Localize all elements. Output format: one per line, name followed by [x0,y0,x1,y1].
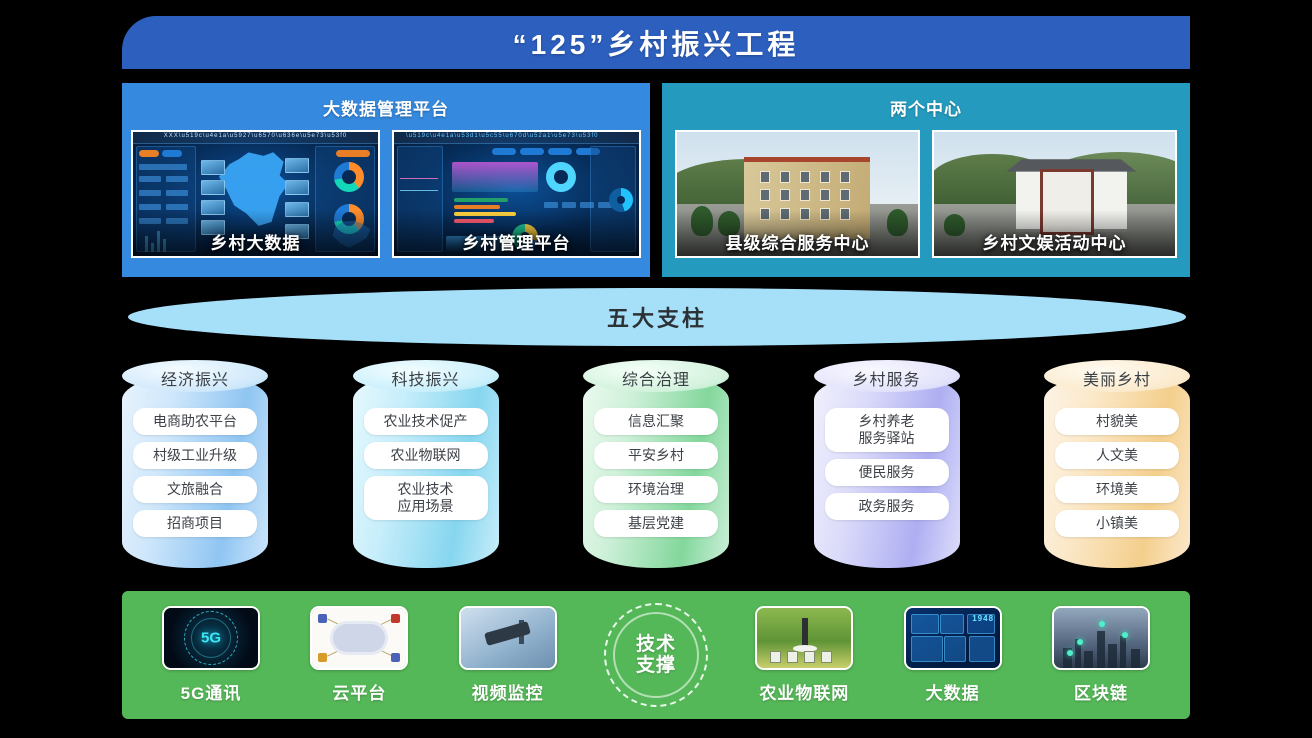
pillar-title: 经济振兴 [122,366,268,390]
pillar-item[interactable]: 文旅融合 [133,476,257,503]
pillar-economic-revitalization[interactable]: 经济振兴 电商助农平台 村级工业升级 文旅融合 招商项目 [122,360,268,568]
pillar-beautiful-village[interactable]: 美丽乡村 村貌美 人文美 环境美 小镇美 [1044,360,1190,568]
tech-item-big-data[interactable]: 1948 大数据 [898,606,1008,704]
card-rural-management-platform[interactable]: \u519c\u4e1a\u53d1\u5c55\u670d\u52a1\u5e… [392,130,641,258]
pillar-item[interactable]: 信息汇聚 [594,408,718,435]
agri-iot-icon [755,606,853,670]
blockchain-icon [1052,606,1150,670]
top-panels: 大数据管理平台 XXX\u519c\u4e1a\u5927\u6570\u636… [122,83,1190,277]
panel-title-big-data: 大数据管理平台 [323,95,449,120]
pillar-item[interactable]: 人文美 [1055,442,1179,469]
card-label-rural-big-data: 乡村大数据 [133,229,378,254]
tech-label: 大数据 [926,679,980,704]
panel-big-data-platform: 大数据管理平台 XXX\u519c\u4e1a\u5927\u6570\u636… [122,83,650,277]
tech-label: 区块链 [1074,679,1128,704]
tech-item-blockchain[interactable]: 区块链 [1046,606,1156,704]
pillar-item[interactable]: 农业技术促产 [364,408,488,435]
pillar-item[interactable]: 农业物联网 [364,442,488,469]
tech-item-5g[interactable]: 5G 5G通讯 [156,606,266,704]
pillars-header-label: 五大支柱 [607,301,707,333]
pillar-item[interactable]: 乡村养老 服务驿站 [825,408,949,452]
pillar-item[interactable]: 农业技术 应用场景 [364,476,488,520]
card-label-rural-management: 乡村管理平台 [394,229,639,254]
card-rural-big-data[interactable]: XXX\u519c\u4e1a\u5927\u6570\u636e\u5e73\… [131,130,380,258]
tech-label: 云平台 [332,679,386,704]
pillar-item[interactable]: 政务服务 [825,493,949,520]
tech-support-badge-text: 技术 支撑 [636,634,676,676]
pillar-title: 乡村服务 [814,366,960,390]
5g-network-icon: 5G [162,606,260,670]
pillar-items: 农业技术促产 农业物联网 农业技术 应用场景 [364,408,488,520]
tech-label: 视频监控 [472,679,544,704]
panel-title-two-centers: 两个中心 [890,95,962,120]
card-label-county-service: 县级综合服务中心 [677,229,918,254]
pillar-item[interactable]: 村貌美 [1055,408,1179,435]
pillar-item[interactable]: 环境美 [1055,476,1179,503]
panel-two-centers: 两个中心 [662,83,1190,277]
pillar-comprehensive-governance[interactable]: 综合治理 信息汇聚 平安乡村 环境治理 基层党建 [583,360,729,568]
pillar-title: 科技振兴 [353,366,499,390]
tech-item-agri-iot[interactable]: 农业物联网 [749,606,859,704]
pillar-item[interactable]: 小镇美 [1055,510,1179,537]
tech-support-badge: 技术 支撑 [601,603,711,707]
badge-line-2: 支撑 [636,655,676,676]
card-label-village-culture: 乡村文娱活动中心 [934,229,1175,254]
title-banner: “125”乡村振兴工程 [122,16,1190,69]
pillar-item[interactable]: 基层党建 [594,510,718,537]
pillar-item[interactable]: 便民服务 [825,459,949,486]
pillar-title: 美丽乡村 [1044,366,1190,390]
cloud-platform-icon [310,606,408,670]
pillar-items: 电商助农平台 村级工业升级 文旅融合 招商项目 [133,408,257,537]
pillar-item[interactable]: 电商助农平台 [133,408,257,435]
pillar-items: 乡村养老 服务驿站 便民服务 政务服务 [825,408,949,520]
tech-label: 农业物联网 [759,679,849,704]
pillar-items: 村貌美 人文美 环境美 小镇美 [1055,408,1179,537]
tech-label: 5G通讯 [181,679,242,704]
badge-line-1: 技术 [636,634,676,655]
pillar-item[interactable]: 平安乡村 [594,442,718,469]
big-data-icon: 1948 [904,606,1002,670]
pillar-item[interactable]: 招商项目 [133,510,257,537]
pillars-row: 经济振兴 电商助农平台 村级工业升级 文旅融合 招商项目 科技振兴 农业技术促产… [122,360,1190,575]
card-village-culture-center[interactable]: 乡村文娱活动中心 [932,130,1177,258]
tech-item-video[interactable]: 视频监控 [453,606,563,704]
card-county-service-center[interactable]: 县级综合服务中心 [675,130,920,258]
pillar-rural-services[interactable]: 乡村服务 乡村养老 服务驿站 便民服务 政务服务 [814,360,960,568]
video-surveillance-icon [459,606,557,670]
pillar-items: 信息汇聚 平安乡村 环境治理 基层党建 [594,408,718,537]
pillar-technology-revitalization[interactable]: 科技振兴 农业技术促产 农业物联网 农业技术 应用场景 [353,360,499,568]
infographic-stage: “125”乡村振兴工程 大数据管理平台 XXX\u519c\u4e1a\u592… [0,0,1312,738]
page-title: “125”乡村振兴工程 [513,23,800,63]
panel-cards-two-centers: 县级综合服务中心 乡村文娱活动中心 [675,130,1177,258]
tech-support-bar: 5G 5G通讯 云平台 [122,591,1190,719]
pillar-item[interactable]: 村级工业升级 [133,442,257,469]
panel-cards-big-data: XXX\u519c\u4e1a\u5927\u6570\u636e\u5e73\… [131,130,641,258]
pillar-title: 综合治理 [583,366,729,390]
tech-item-cloud[interactable]: 云平台 [304,606,414,704]
pillar-item[interactable]: 环境治理 [594,476,718,503]
pillars-header-banner: 五大支柱 [128,288,1186,346]
